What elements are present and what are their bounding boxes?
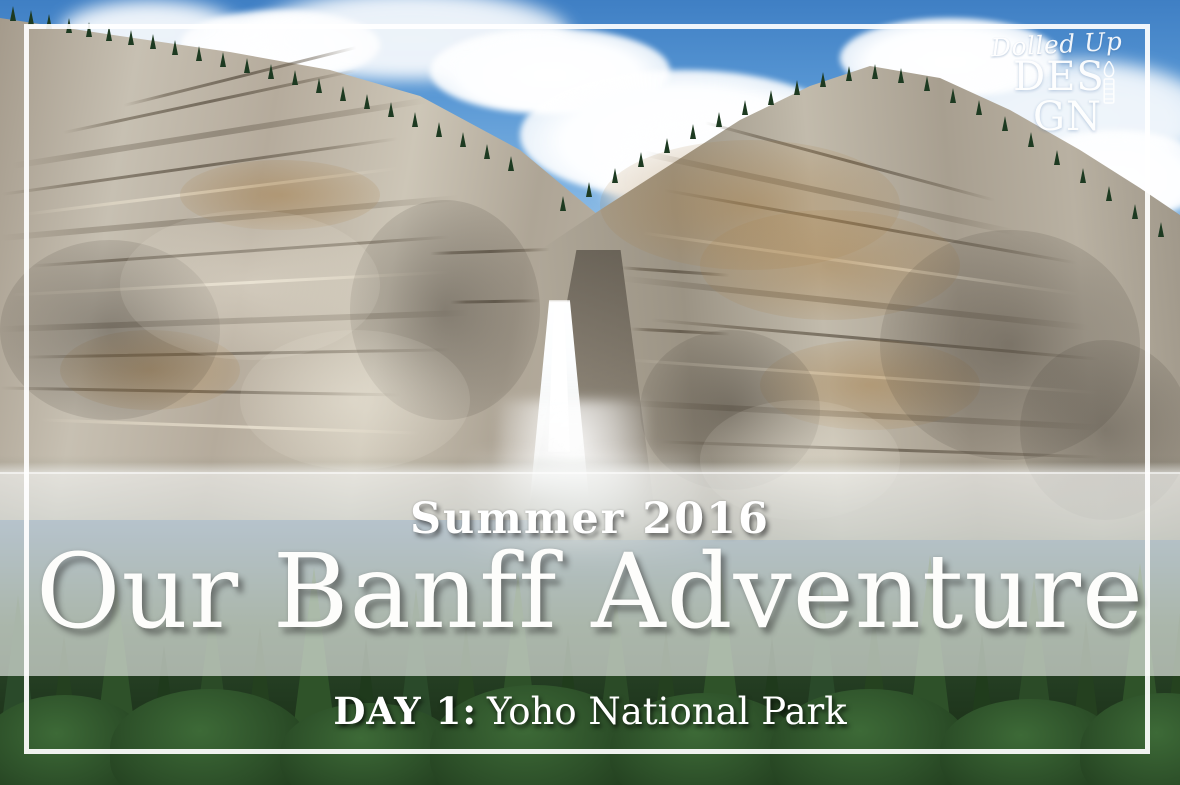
title-band [0, 472, 1180, 676]
candle-flame-icon [1101, 61, 1117, 105]
watermark-line2: DESGN [980, 57, 1155, 137]
watermark: Dolled Up DESGN [980, 30, 1155, 116]
rock-highlight [240, 330, 470, 470]
watermark-gn: GN [1033, 94, 1102, 140]
title-graphic: Summer 2016 Our Banff Adventure DAY 1:Yo… [0, 0, 1180, 785]
